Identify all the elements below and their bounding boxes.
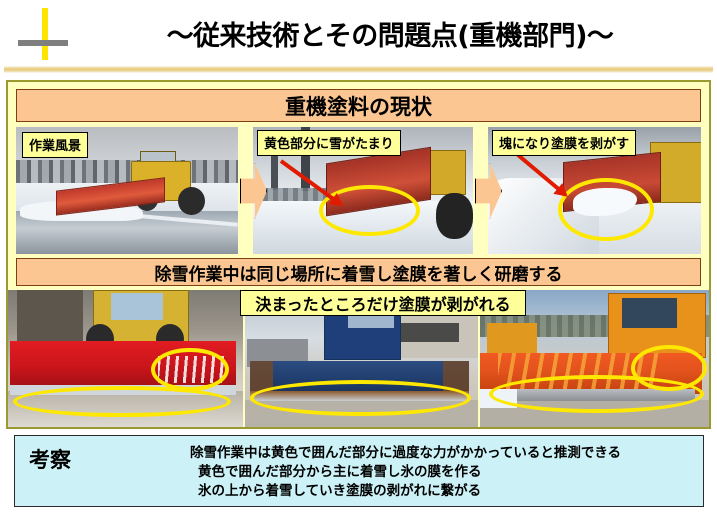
logo-mark	[18, 8, 74, 60]
conclusion-box: 考察 除雪作業中は黄色で囲んだ部分に過度な力がかかっていると推測できる 黄色で囲…	[14, 435, 704, 507]
photo-vehicle-tire	[436, 193, 473, 239]
main-content-panel: 重機塗料の現状 作業風景	[6, 80, 711, 429]
highlight-ellipse	[319, 185, 420, 236]
section-header-band: 重機塗料の現状	[16, 89, 701, 122]
highlight-ellipse-lower	[489, 375, 704, 413]
conclusion-line: 黄色で囲んだ部分から主に着雪し氷の膜を作る	[190, 463, 695, 482]
conclusion-line: 除雪作業中は黄色で囲んだ部分に過度な力がかかっていると推測できる	[190, 444, 695, 463]
page-title: ～従来技術とその問題点(重機部門)～	[90, 14, 690, 53]
logo-vertical-bar-icon	[42, 8, 48, 60]
highlight-ellipse	[250, 380, 471, 416]
flow-arrow-shape	[475, 163, 502, 219]
conclusion-lines: 除雪作業中は黄色で囲んだ部分に過度な力がかかっていると推測できる 黄色で囲んだ部…	[190, 444, 695, 501]
photo-second-vehicle	[487, 323, 537, 356]
title-divider	[4, 66, 713, 73]
photo-label-paint-peeling: 塊になり塗膜を剥がす	[492, 130, 636, 156]
mid-caption-band: 除雪作業中は同じ場所に着雪し塗膜を著しく研磨する	[16, 258, 701, 286]
bottom-caption-box: 決まったところだけ塗膜が剥がれる	[240, 290, 526, 316]
photo-red-blade	[8, 290, 243, 427]
photo-vehicle-wheel-front	[178, 187, 205, 215]
highlight-ellipse-upper	[151, 348, 229, 392]
slide-title-area: ～従来技術とその問題点(重機部門)～	[0, 0, 717, 62]
conclusion-title: 考察	[29, 444, 71, 474]
flow-arrow-shape	[240, 163, 267, 219]
logo-horizontal-bar-icon	[18, 40, 68, 46]
photo-paint-peeling: 塊になり塗膜を剥がす	[488, 127, 701, 254]
conclusion-line: 氷の上から着雪していき塗膜の剥がれに繋がる	[190, 482, 695, 501]
photo-work-scene: 作業風景	[16, 127, 238, 254]
photo-vehicle-cab	[622, 298, 677, 328]
highlight-ellipse	[558, 178, 654, 242]
flow-arrow-right-icon	[240, 163, 267, 219]
photo-snow-accumulation: 黄色部分に雪がたまり	[253, 127, 473, 254]
photo-vehicle-windshield	[111, 293, 163, 320]
photo-label-snow-accumulation: 黄色部分に雪がたまり	[257, 130, 401, 156]
flow-arrow-right-icon	[475, 163, 502, 219]
top-photo-row: 作業風景 黄色部分に雪がたまり	[16, 127, 701, 254]
photo-label-work-scene: 作業風景	[22, 132, 88, 158]
